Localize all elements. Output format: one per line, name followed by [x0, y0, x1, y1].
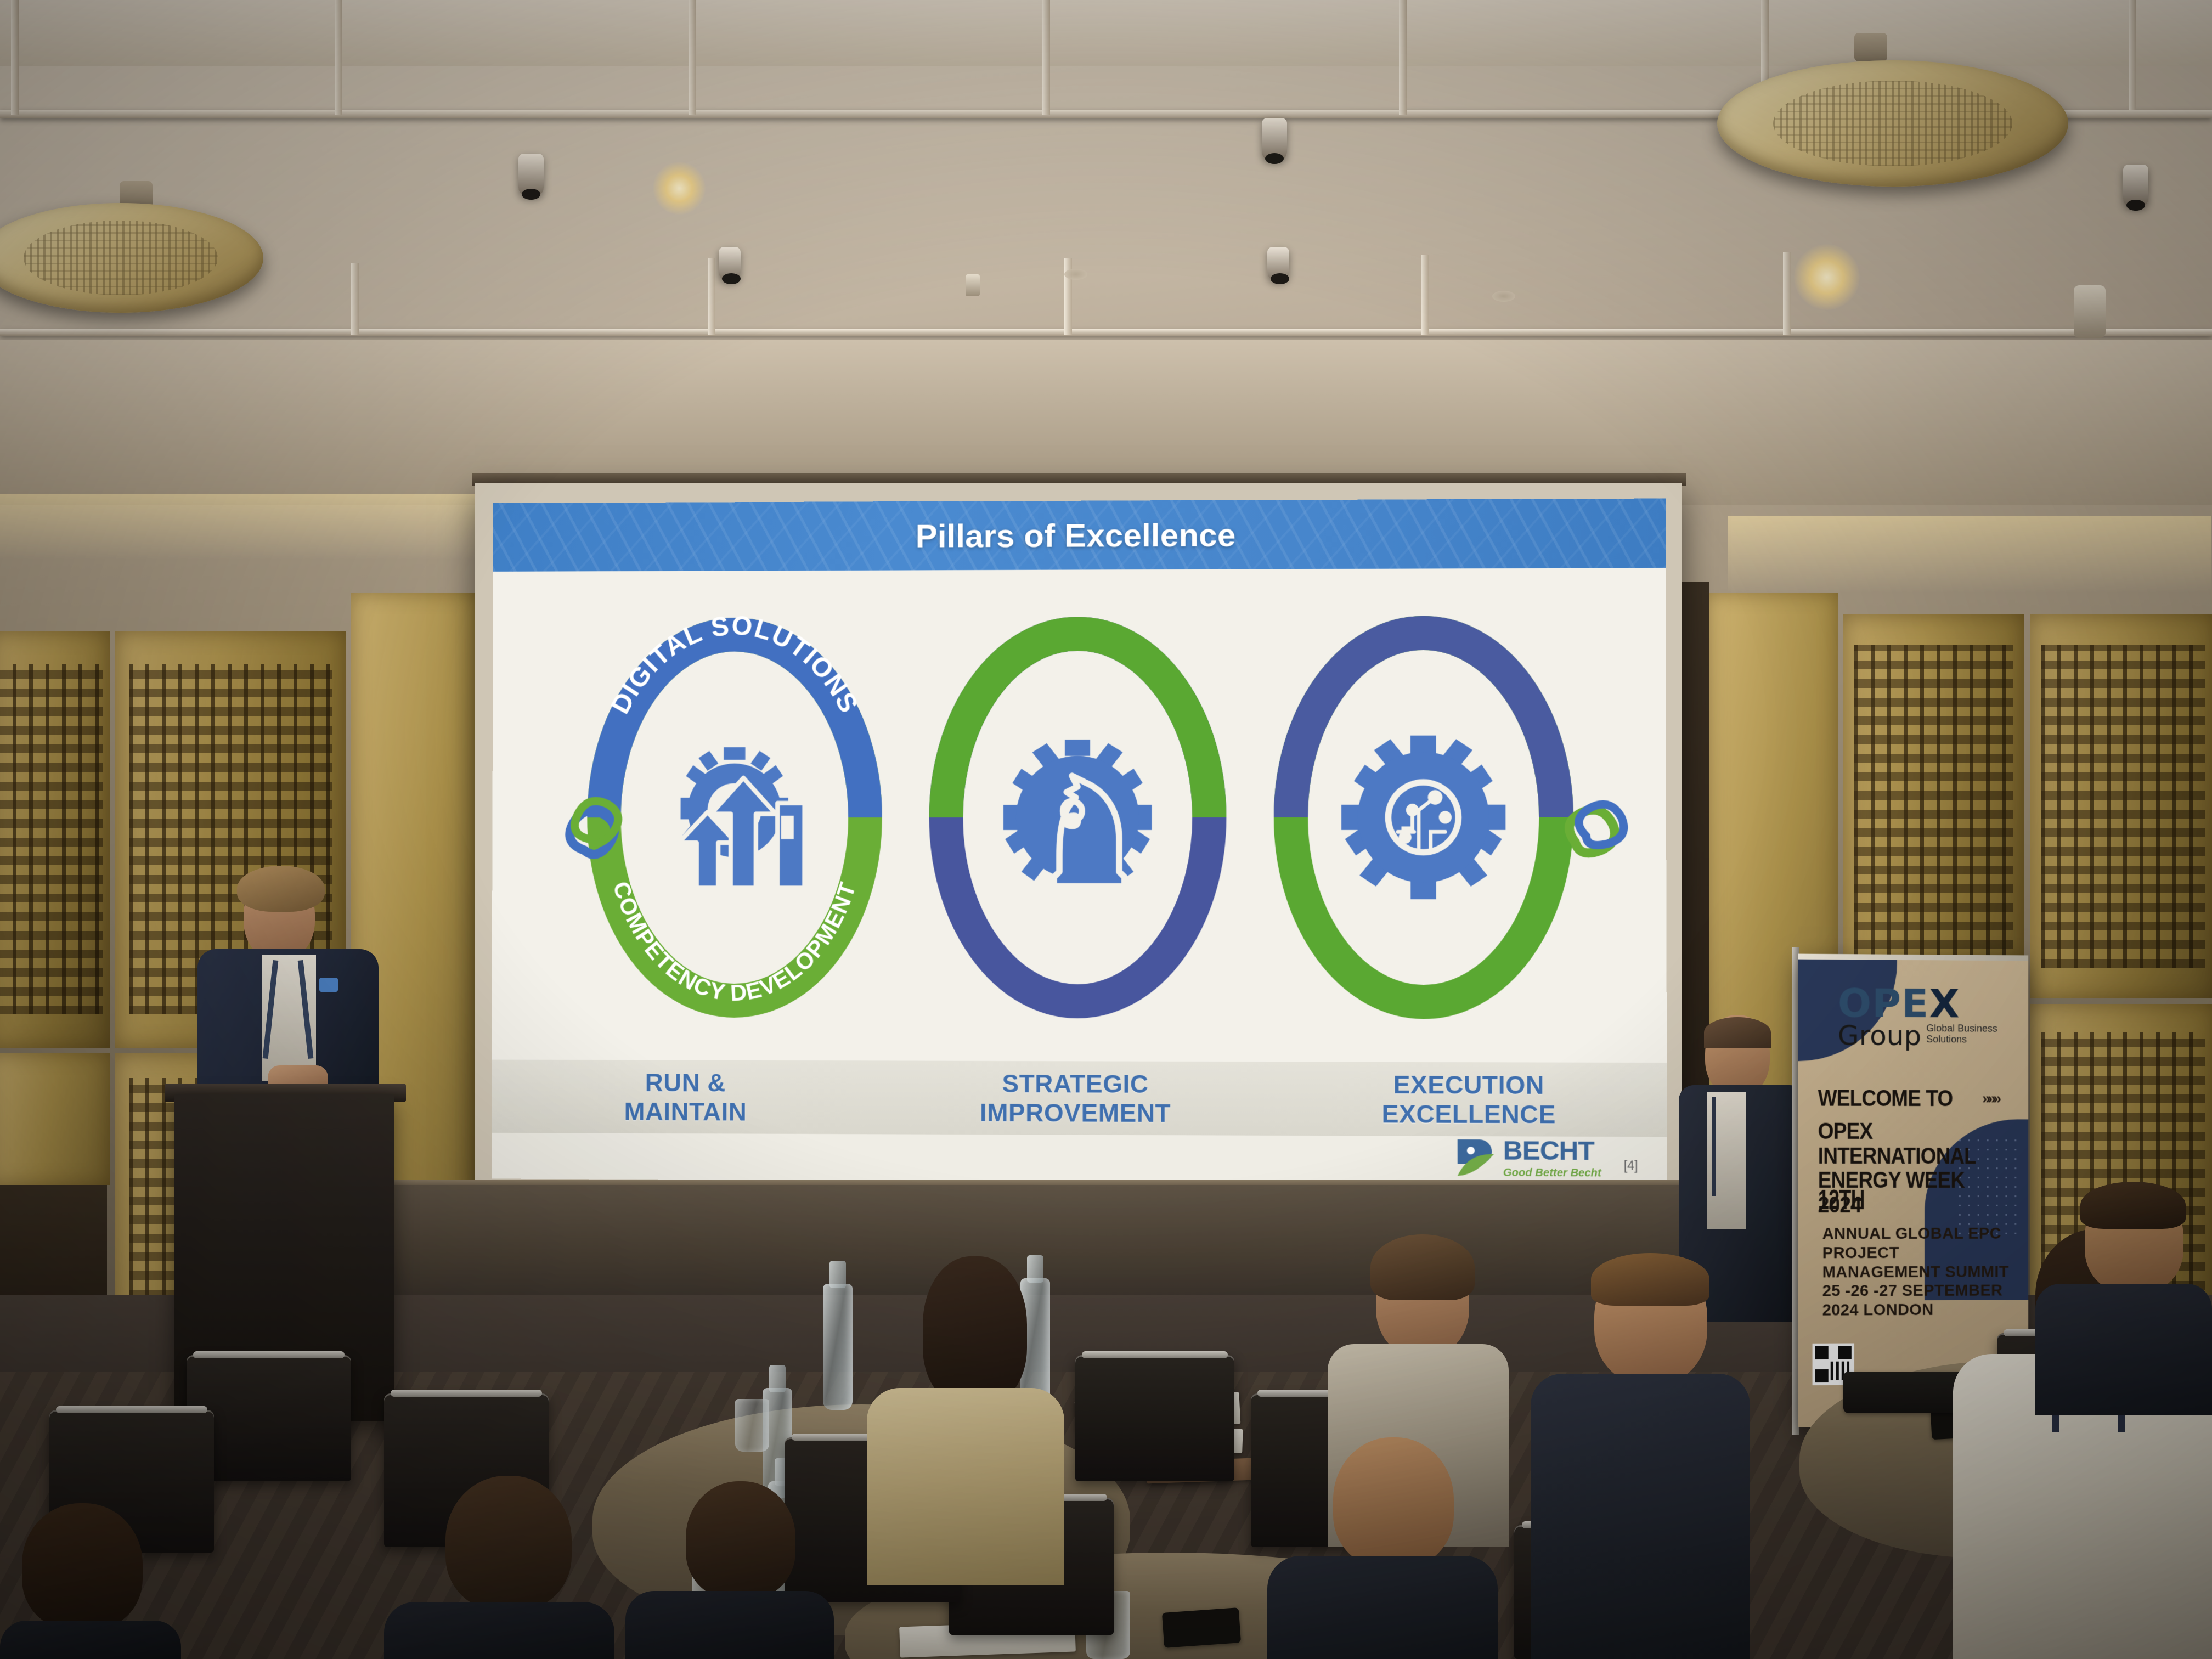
audience-jacket [1531, 1374, 1750, 1659]
ring-3-icon-wrap [1332, 726, 1515, 909]
audience-jacket [0, 1621, 181, 1659]
ring-1-icon-wrap [645, 727, 825, 908]
gear-chess-knight-icon [987, 727, 1168, 908]
audience-member [1267, 1437, 1498, 1659]
audience-hair [923, 1256, 1027, 1404]
drinking-glass [735, 1399, 769, 1452]
banner-welcome-row: WELCOME TO »»» [1818, 1085, 1999, 1112]
chevron-right-icon: »»» [1982, 1090, 1999, 1107]
ceiling-oval-lamp [1717, 60, 2068, 187]
wall-panel-plain [0, 1053, 110, 1185]
wall-panel-perforated [1843, 614, 2024, 998]
audience-member [0, 1503, 181, 1659]
lamp-stem [1854, 33, 1887, 61]
ceiling-rod [335, 0, 342, 115]
presenter-lapel-pin [319, 978, 338, 992]
presentation-slide: Pillars of Excellence DIGITAL SOLUTIONS … [492, 499, 1667, 1184]
caption-line-2: MAINTAIN [624, 1097, 747, 1127]
ceiling-light-glow [1794, 244, 1860, 310]
ceiling-rod [2129, 0, 2136, 110]
ceiling-rod [11, 0, 19, 115]
audience-head [686, 1481, 795, 1599]
becht-logo: BECHT Good Better Becht [1455, 1137, 1601, 1179]
audience-hair [1591, 1253, 1709, 1306]
ceiling-recessed-fixture [1492, 291, 1515, 302]
wall-uplight [1728, 516, 2211, 592]
audience-member [861, 1256, 1064, 1585]
audience-member [1531, 1256, 1750, 1659]
spotlight-icon [1267, 247, 1289, 281]
pillar-ring-3 [1254, 591, 1593, 1044]
conference-room-photo: Pillars of Excellence DIGITAL SOLUTIONS … [0, 0, 2212, 1659]
slide-footer: BECHT Good Better Becht [4] [492, 1133, 1667, 1183]
banner-welcome-text: WELCOME TO [1818, 1085, 1953, 1112]
slide-page-number: [4] [1624, 1158, 1638, 1173]
audience-member [384, 1476, 614, 1659]
opex-tagline-line2: Solutions [1926, 1034, 1967, 1045]
caption-line-2: EXCELLENCE [1382, 1099, 1556, 1130]
opex-logo: OPEX Group Global Business Solutions [1838, 985, 2008, 1048]
spotlight-icon [2123, 165, 2148, 207]
ceiling-rod [1399, 0, 1407, 115]
ceiling-rod [1042, 0, 1050, 115]
banner-edition: 12TH [1818, 1184, 1865, 1216]
audience-jacket [867, 1388, 1064, 1585]
wall-panel-perforated [0, 631, 110, 1048]
audience-head [445, 1476, 572, 1610]
ceiling-rod-lower [1421, 255, 1429, 335]
audience-hair [1370, 1234, 1475, 1300]
spotlight-icon [1262, 118, 1287, 161]
ceiling-recessed-fixture [1064, 269, 1087, 280]
audience-head [1333, 1437, 1454, 1567]
becht-logo-text: BECHT Good Better Becht [1503, 1137, 1601, 1178]
becht-name: BECHT [1503, 1137, 1601, 1165]
pillars-diagram: DIGITAL SOLUTIONS COMPETENCY DEVELOPMENT [492, 568, 1667, 1065]
becht-tagline: Good Better Becht [1503, 1167, 1601, 1179]
audience-jacket [384, 1602, 614, 1659]
pillar-captions: RUN & MAINTAIN STRATEGIC IMPROVEMENT EXE… [492, 1060, 1667, 1138]
caption-line-1: EXECUTION [1393, 1070, 1544, 1100]
ceiling-rod-lower [1783, 252, 1791, 335]
audience-jacket [1267, 1556, 1498, 1659]
interlock-knot-icon [1564, 797, 1629, 861]
caption-run-maintain: RUN & MAINTAIN [492, 1060, 880, 1136]
audience-jacket [625, 1591, 834, 1659]
gear-house-growth-arrows-icon [645, 727, 825, 908]
smartphone [1162, 1607, 1241, 1648]
ring-2-icon-wrap [987, 727, 1168, 908]
spotlight-icon [719, 247, 741, 281]
caption-line-1: STRATEGIC [1002, 1069, 1149, 1099]
audience-member [625, 1481, 834, 1659]
caption-line-2: IMPROVEMENT [980, 1098, 1171, 1128]
presenter-hair [237, 866, 325, 912]
audience-hair [2080, 1182, 2186, 1229]
attendee-hair [1704, 1017, 1771, 1048]
caption-execution-excellence: EXECUTION EXCELLENCE [1272, 1062, 1667, 1138]
water-bottle [823, 1284, 853, 1410]
pillar-ring-1: DIGITAL SOLUTIONS COMPETENCY DEVELOPMENT [568, 593, 901, 1042]
wall-uplight [0, 494, 483, 560]
attendee-lanyard [1712, 1097, 1716, 1196]
audience-head [22, 1503, 143, 1629]
sprinkler-icon [966, 274, 980, 296]
lamp-grill [24, 221, 218, 295]
wall-panel-perforated [2030, 614, 2212, 998]
opex-logo-tagline: Global Business Solutions [1926, 1023, 1997, 1048]
ceiling-rod-lower [351, 263, 359, 335]
lamp-grill [1773, 81, 2012, 166]
opex-logo-word: OPEX [1838, 985, 2008, 1022]
spotlight-icon [518, 154, 544, 196]
gear-circuit-network-icon [1332, 726, 1515, 909]
ceiling-rod [689, 0, 696, 115]
audience-member [2035, 1185, 2212, 1415]
ceiling-rail-lower [0, 329, 2212, 336]
pillar-ring-2 [910, 592, 1245, 1043]
ceiling-light-glow [653, 162, 706, 215]
caption-strategic-improvement: STRATEGIC IMPROVEMENT [880, 1060, 1272, 1136]
opex-tagline-line1: Global Business [1926, 1023, 1997, 1034]
slide-title: Pillars of Excellence [493, 499, 1666, 572]
caption-line-1: RUN & [645, 1068, 726, 1098]
opex-logo-group: Group [1838, 1023, 1921, 1048]
chair [1075, 1355, 1234, 1481]
presenter [198, 872, 379, 1108]
becht-logo-mark [1455, 1137, 1497, 1178]
audience-jacket [2035, 1284, 2212, 1415]
opex-logo-x: X [1929, 980, 1960, 1026]
ceiling-rod-lower [708, 258, 715, 335]
sprinkler-icon [2074, 285, 2106, 338]
